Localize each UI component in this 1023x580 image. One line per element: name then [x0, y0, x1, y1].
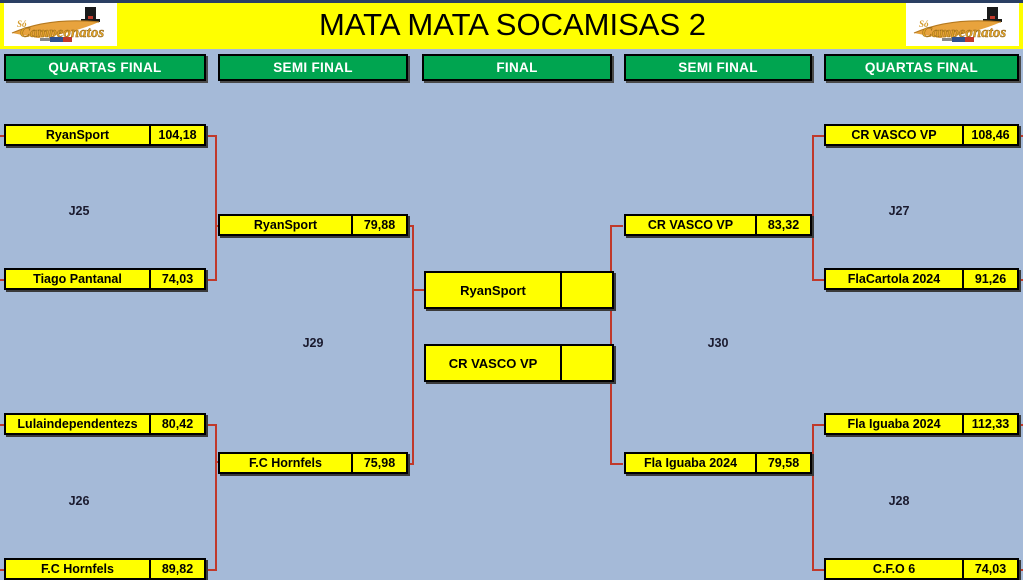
match-slot-right-q2-team2[interactable]: C.F.O 6 74,03 [824, 558, 1019, 580]
team-score: 74,03 [149, 270, 204, 288]
team-name: Fla Iguaba 2024 [826, 415, 962, 433]
round-header-final: FINAL [422, 54, 612, 81]
logo-left: Só Campeonatos [4, 3, 117, 46]
team-name: C.F.O 6 [826, 560, 962, 578]
team-score: 79,58 [755, 454, 810, 472]
round-header-semi-final-left: SEMI FINAL [218, 54, 408, 81]
connector-left-q1-spine [215, 135, 217, 279]
title-bar: Só Campeonatos MATA MATA SOCAMISAS 2 Só … [0, 0, 1023, 49]
bracket-page: Só Campeonatos MATA MATA SOCAMISAS 2 Só … [0, 0, 1023, 580]
team-name: F.C Hornfels [6, 560, 149, 578]
team-score: 80,42 [149, 415, 204, 433]
match-slot-left-q1-team2[interactable]: Tiago Pantanal 74,03 [4, 268, 206, 290]
so-campeonatos-logo-icon: Só Campeonatos [906, 3, 1019, 46]
page-title: MATA MATA SOCAMISAS 2 [130, 0, 895, 49]
connector-left-q2-bottom-out [205, 569, 217, 571]
match-slot-left-q1-team1[interactable]: RyanSport 104,18 [4, 124, 206, 146]
team-score: 83,32 [755, 216, 810, 234]
connector-left-q2-spine [215, 424, 217, 569]
match-slot-left-q2-team2[interactable]: F.C Hornfels 89,82 [4, 558, 206, 580]
connector-right-q1-spine [812, 135, 814, 279]
match-slot-left-semi-team1[interactable]: RyanSport 79,88 [218, 214, 408, 236]
team-name: Fla Iguaba 2024 [626, 454, 755, 472]
team-name: CR VASCO VP [826, 126, 962, 144]
round-header-quartas-final-left: QUARTAS FINAL [4, 54, 206, 81]
team-name: Tiago Pantanal [6, 270, 149, 288]
team-score: 104,18 [149, 126, 204, 144]
match-slot-right-q2-team1[interactable]: Fla Iguaba 2024 112,33 [824, 413, 1019, 435]
connector-left-q1-bottom-out [205, 279, 217, 281]
team-score: 75,98 [351, 454, 406, 472]
connector-right-semi-bottom-out [610, 463, 623, 465]
team-name: CR VASCO VP [626, 216, 755, 234]
match-slot-left-q2-team1[interactable]: Lulaindependentezs 80,42 [4, 413, 206, 435]
team-name: Lulaindependentezs [6, 415, 149, 433]
team-score [560, 346, 612, 380]
match-id-j26: J26 [4, 494, 154, 508]
team-name: RyanSport [6, 126, 149, 144]
match-slot-right-q1-team2[interactable]: FlaCartola 2024 91,26 [824, 268, 1019, 290]
team-score: 79,88 [351, 216, 406, 234]
team-score [560, 273, 612, 307]
team-score: 112,33 [962, 415, 1017, 433]
round-header-quartas-final-right: QUARTAS FINAL [824, 54, 1019, 81]
team-name: RyanSport [426, 273, 560, 307]
match-id-j28: J28 [824, 494, 974, 508]
match-id-j27: J27 [824, 204, 974, 218]
match-slot-final-team2[interactable]: CR VASCO VP [424, 344, 614, 382]
match-slot-right-q1-team1[interactable]: CR VASCO VP 108,46 [824, 124, 1019, 146]
team-score: 108,46 [962, 126, 1017, 144]
logo-right: Só Campeonatos [906, 3, 1019, 46]
connector-right-q2-spine [812, 424, 814, 569]
team-name: CR VASCO VP [426, 346, 560, 380]
connector-left-semi-spine [412, 225, 414, 465]
round-header-semi-final-right: SEMI FINAL [624, 54, 812, 81]
match-slot-right-semi-team2[interactable]: Fla Iguaba 2024 79,58 [624, 452, 812, 474]
match-id-j30: J30 [624, 336, 812, 350]
team-name: F.C Hornfels [220, 454, 351, 472]
so-campeonatos-logo-icon: Só Campeonatos [4, 3, 117, 46]
match-slot-right-semi-team1[interactable]: CR VASCO VP 83,32 [624, 214, 812, 236]
match-slot-final-team1[interactable]: RyanSport [424, 271, 614, 309]
team-score: 74,03 [962, 560, 1017, 578]
match-id-j25: J25 [4, 204, 154, 218]
team-name: RyanSport [220, 216, 351, 234]
match-slot-left-semi-team2[interactable]: F.C Hornfels 75,98 [218, 452, 408, 474]
team-score: 89,82 [149, 560, 204, 578]
team-name: FlaCartola 2024 [826, 270, 962, 288]
match-id-j29: J29 [218, 336, 408, 350]
team-score: 91,26 [962, 270, 1017, 288]
